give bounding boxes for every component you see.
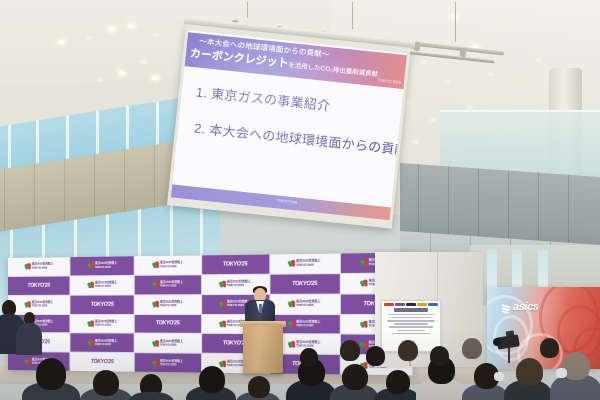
backdrop-logo: 東京2025世界陸上TOKYO 2025: [87, 282, 117, 289]
flower-icon: [87, 282, 93, 288]
downlight: [128, 24, 135, 28]
hanger-wire: [352, 2, 353, 29]
downlight: [430, 118, 437, 122]
downlight: [412, 140, 419, 144]
audience-head: [430, 346, 449, 366]
downlight: [487, 72, 494, 76]
backdrop-wordmark: TOKYO'25: [223, 261, 247, 268]
audience-head: [36, 358, 66, 390]
audience-head: [462, 338, 482, 359]
speaker-necktie: [259, 304, 262, 313]
backdrop-logo-text: 東京2025世界陸上TOKYO 2025: [95, 263, 117, 270]
backdrop-logo-text: 東京2025世界陸上TOKYO 2025: [95, 282, 117, 288]
flower-icon: [360, 341, 367, 348]
backdrop-tile: 東京2025世界陸上TOKYO 2025: [270, 254, 340, 274]
downlight: [152, 76, 159, 80]
audience-head: [340, 340, 360, 361]
face-mask: [556, 368, 567, 378]
backdrop-logo: 東京2025世界陸上TOKYO 2025: [152, 281, 182, 288]
downlight: [466, 105, 473, 109]
audience-shoulders: [128, 392, 174, 400]
backdrop-tile: 東京2025世界陸上TOKYO 2025: [71, 256, 134, 275]
audience-head: [540, 338, 559, 358]
flower-icon: [288, 341, 295, 348]
backdrop-tile: 東京2025世界陸上TOKYO 2025: [8, 257, 70, 276]
track-spotlight: [460, 48, 467, 58]
audience-head: [386, 370, 410, 394]
audience-head: [248, 376, 270, 398]
camera-lens: [493, 338, 501, 346]
backdrop-logo-text: 東京2025世界陸上TOKYO 2025: [297, 260, 321, 267]
audience-head: [398, 340, 418, 361]
downlight: [118, 71, 125, 75]
poster-header-bar: [382, 301, 440, 307]
hanger-wire: [455, 2, 456, 42]
backdrop-logo: 東京2025世界陸上TOKYO 2025: [24, 263, 53, 270]
backdrop-wordmark: TOKYO'25: [27, 282, 49, 288]
backdrop-tile: TOKYO'25: [8, 276, 70, 294]
backdrop-tile: 東京2025世界陸上TOKYO 2025: [135, 255, 200, 274]
downlight: [86, 36, 93, 40]
backdrop-tile: 東京2025世界陸上TOKYO 2025: [135, 295, 200, 314]
backdrop-logo: 東京2025世界陸上TOKYO 2025: [152, 359, 182, 366]
flower-icon: [152, 359, 159, 366]
backdrop-logo: 東京2025世界陸上TOKYO 2025: [288, 300, 320, 307]
flower-icon: [219, 301, 226, 308]
backdrop-logo: 東京2025世界陸上TOKYO 2025: [152, 301, 182, 308]
backdrop-tile: 東京2025世界陸上TOKYO 2025: [8, 295, 70, 313]
backdrop-logo: 東京2025世界陸上TOKYO 2025: [87, 340, 117, 347]
flower-icon: [24, 358, 30, 364]
audience-head: [516, 358, 543, 386]
hanger-wire: [247, 2, 248, 18]
backdrop-tile: 東京2025世界陸上TOKYO 2025: [71, 315, 134, 333]
backdrop-logo: 東京2025世界陸上TOKYO 2025: [219, 281, 250, 288]
flower-icon: [152, 262, 159, 269]
flower-icon: [219, 281, 226, 288]
camera-monopod: [508, 347, 510, 363]
backdrop-wordmark: TOKYO'25: [91, 359, 114, 365]
flower-icon: [360, 321, 367, 328]
backdrop-logo-text: 東京2025世界陸上TOKYO 2025: [297, 341, 321, 348]
backdrop-tile: 東京2025世界陸上TOKYO 2025: [71, 276, 134, 295]
backdrop-logo-text: 東京2025世界陸上TOKYO 2025: [160, 262, 183, 269]
backdrop-logo: 東京2025世界陸上TOKYO 2025: [288, 260, 320, 267]
downlight: [443, 80, 450, 84]
backdrop-tile: 東京2025世界陸上TOKYO 2025: [135, 275, 200, 294]
conference-hall-photo: 〜本大会への地球環境面からの貢献〜 カーボンクレジットを活用したCO₂排出量削減…: [0, 0, 600, 400]
backdrop-tile: 東京2025世界陸上TOKYO 2025: [270, 294, 340, 313]
downlight: [535, 58, 542, 62]
backdrop-logo-text: 東京2025世界陸上TOKYO 2025: [227, 281, 251, 288]
flower-icon: [87, 320, 93, 326]
flower-icon: [288, 301, 295, 308]
backdrop-tile: TOKYO'25: [270, 274, 340, 294]
backdrop-logo-text: 東京2025世界陸上TOKYO 2025: [95, 320, 117, 326]
downlight: [405, 100, 412, 104]
flower-icon: [288, 321, 295, 328]
poster-title-block: [394, 308, 428, 312]
downlight: [108, 27, 115, 31]
audience-head: [366, 346, 385, 366]
backdrop-tile: 東京2025世界陸上TOKYO 2025: [135, 353, 200, 372]
slide-corner-logo: TOKYO GAS: [377, 77, 401, 84]
backdrop-logo: 東京2025世界陸上TOKYO 2025: [87, 262, 117, 269]
backdrop-logo-text: 東京2025世界陸上TOKYO 2025: [160, 281, 183, 288]
asics-wordmark: asics: [513, 301, 539, 313]
backdrop-wordmark: TOKYO'25: [156, 321, 180, 327]
backdrop-tile: 東京2025世界陸上TOKYO 2025: [135, 334, 200, 353]
audience-head: [300, 348, 318, 367]
flower-icon: [87, 263, 93, 269]
flower-icon: [219, 321, 226, 328]
flower-icon: [87, 340, 93, 346]
slide-bullet-2: 2. 本大会への地球環境面からの貢献: [193, 117, 407, 158]
backdrop-logo-text: 東京2025世界陸上TOKYO 2025: [160, 301, 183, 307]
backdrop-logo: 東京2025世界陸上TOKYO 2025: [288, 321, 320, 328]
backdrop-logo-text: 東京2025世界陸上TOKYO 2025: [297, 301, 321, 308]
backdrop-logo-text: 東京2025世界陸上TOKYO 2025: [31, 263, 53, 269]
downlight: [140, 60, 147, 64]
downlight: [58, 40, 65, 44]
flower-icon: [360, 259, 367, 266]
slide-bullet-1: 1. 東京ガスの事業紹介: [195, 81, 331, 114]
flower-icon: [360, 280, 367, 287]
staff-shoulders: [16, 323, 42, 355]
backdrop-tile: 東京2025世界陸上TOKYO 2025: [71, 334, 134, 353]
backdrop-wordmark: TOKYO'25: [292, 280, 317, 287]
audience-head: [342, 364, 368, 390]
flower-icon: [24, 263, 30, 269]
flower-icon: [152, 301, 159, 308]
backdrop-logo-text: 東京2025世界陸上TOKYO 2025: [31, 301, 53, 307]
podium: [243, 325, 283, 373]
backdrop-logo: 東京2025世界陸上TOKYO 2025: [288, 341, 320, 348]
face-mask: [494, 372, 504, 381]
slide-footer-logo: TOKYO GAS: [276, 198, 297, 204]
audience-head: [199, 366, 225, 393]
downlight: [96, 78, 103, 82]
backdrop-logo-text: 東京2025世界陸上TOKYO 2025: [95, 340, 117, 346]
flower-icon: [152, 340, 159, 347]
slide-main-title-suffix: を活用したCO₂排出量削減貢献: [288, 62, 379, 78]
backdrop-logo-text: 東京2025世界陸上TOKYO 2025: [160, 360, 183, 367]
downlight: [420, 60, 427, 64]
flower-icon: [288, 260, 295, 267]
projection-screen: 〜本大会への地球環境面からの貢献〜 カーボンクレジットを活用したCO₂排出量削減…: [167, 24, 411, 229]
audience-head: [93, 370, 119, 396]
flower-icon: [24, 301, 30, 307]
downlight: [152, 33, 159, 37]
downlight: [505, 26, 512, 30]
asics-stripe-mark: [502, 304, 512, 311]
backdrop-tile: TOKYO'25: [135, 315, 200, 334]
flower-icon: [219, 360, 226, 367]
projected-slide: 〜本大会への地球環境面からの貢献〜 カーボンクレジットを活用したCO₂排出量削減…: [171, 30, 407, 220]
backdrop-logo: 東京2025世界陸上TOKYO 2025: [152, 340, 182, 347]
backdrop-logo: 東京2025世界陸上TOKYO 2025: [87, 320, 117, 327]
backdrop-logo: 東京2025世界陸上TOKYO 2025: [152, 262, 182, 269]
backdrop-logo-text: 東京2025世界陸上TOKYO 2025: [160, 340, 183, 347]
backdrop-tile: TOKYO'25: [71, 295, 134, 313]
backdrop-wordmark: TOKYO'25: [91, 301, 114, 307]
flower-icon: [152, 281, 159, 288]
backdrop-tile: TOKYO'25: [202, 255, 269, 275]
backdrop-logo: 東京2025世界陸上TOKYO 2025: [24, 301, 53, 307]
backdrop-tile: TOKYO'25: [71, 353, 134, 372]
backdrop-logo-text: 東京2025世界陸上TOKYO 2025: [297, 321, 321, 328]
